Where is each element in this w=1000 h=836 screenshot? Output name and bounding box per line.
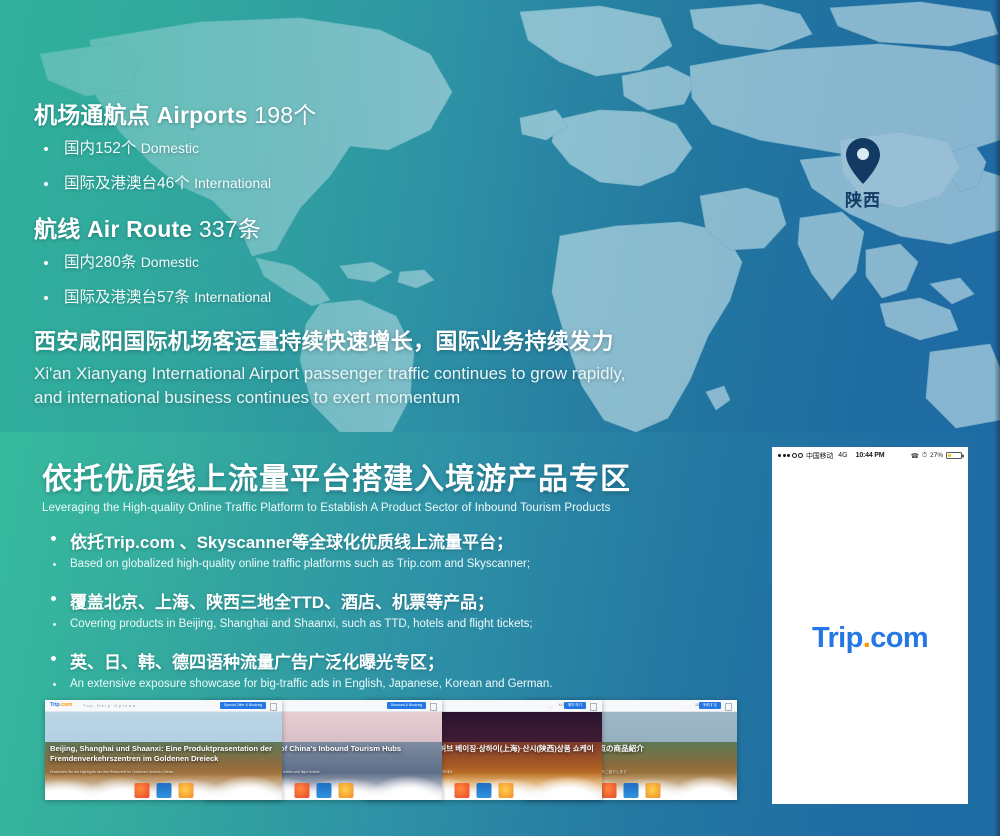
feature-3-en: An extensive exposure showcase for big-t… [42, 678, 682, 690]
status-right-group: ☎ ⏱ 27% [911, 452, 962, 460]
airports-heading: 机场通航点 Airports 198个 [34, 96, 694, 130]
routes-heading-en: Air Route [87, 216, 192, 242]
routes-domestic-en: Domestic [141, 254, 199, 270]
airports-domestic-en: Domestic [141, 140, 199, 156]
partner-logo-1-icon [134, 783, 149, 798]
feature-1-en: Based on globalized high-quality online … [42, 558, 682, 570]
feature-2-cn: 覆盖北京、上海、陕西三地全TTD、酒店、机票等产品； [42, 588, 682, 613]
menu-icon[interactable] [430, 703, 437, 711]
thumb-nav-links: Top Help Upload [83, 703, 137, 708]
routes-heading-cn: 航线 [34, 216, 80, 242]
thumb-cta-button[interactable]: Special Offer & Booking [220, 702, 266, 709]
thumb-hero-image: Beijing, Shanghai und Shaanxi: Eine Prod… [45, 712, 282, 800]
phone-content: Trip.com [772, 464, 968, 804]
partner-logo-3-icon [646, 783, 661, 798]
list-item: 国际及港澳台46个 International [34, 175, 694, 192]
headline-en: Xi'an Xianyang International Airport pas… [34, 362, 634, 410]
screenshot-thumbnail-strip: Trip.com Top Help Upload DE Special Offe… [45, 700, 737, 800]
airports-domestic-cn: 国内152个 [64, 140, 136, 157]
alarm-clock-icon: ⏱ [922, 452, 927, 460]
partner-logo-1-icon [294, 783, 309, 798]
section-title: 依托优质线上流量平台搭建入境游产品专区 Leveraging the High-… [42, 464, 631, 514]
section-title-en: Leveraging the High-quality Online Traff… [42, 502, 631, 514]
airports-heading-en: Airports [157, 102, 248, 128]
airports-heading-num: 198个 [254, 102, 316, 128]
list-item: 英、日、韩、德四语种流量广告广泛化曝光专区； An extensive expo… [42, 648, 682, 690]
hero-partner-logos [134, 783, 193, 798]
shaanxi-map-marker: 陕西 [833, 138, 893, 211]
thumb-cta-button[interactable]: 예약 하기 [564, 702, 586, 709]
section-title-cn: 依托优质线上流量平台搭建入境游产品专区 [42, 464, 631, 496]
hero-partner-logos [602, 783, 661, 798]
slide-canvas: 机场通航点 Airports 198个 国内152个 Domestic 国际及港… [0, 0, 1000, 836]
top-stats-block: 机场通航点 Airports 198个 国内152个 Domestic 国际及港… [34, 96, 694, 410]
flag-jp-icon [682, 703, 689, 708]
partner-logo-3-icon [498, 783, 513, 798]
map-pin-icon [833, 138, 893, 184]
hero-partner-logos [454, 783, 513, 798]
list-item: 国内152个 Domestic [34, 140, 694, 157]
menu-icon[interactable] [590, 703, 597, 711]
partner-logo-2-icon [156, 783, 171, 798]
thumb-browser-bar: Trip.com Top Help Upload DE Special Offe… [45, 700, 282, 712]
partner-logo-2-icon [476, 783, 491, 798]
routes-heading-num: 337条 [199, 216, 261, 242]
routes-domestic-cn: 国内280条 [64, 254, 136, 271]
list-item: 依托Trip.com 、Skyscanner等全球化优质线上流量平台； Base… [42, 528, 682, 570]
partner-logo-1-icon [602, 783, 617, 798]
thumb-caption: Beijing, Shanghai und Shaanxi: Eine Prod… [50, 744, 277, 764]
flag-kr-icon [547, 703, 554, 708]
routes-list: 国内280条 Domestic 国际及港澳台57条 International [34, 254, 694, 306]
feature-1-cn: 依托Trip.com 、Skyscanner等全球化优质线上流量平台； [42, 528, 682, 553]
phone-status-bar: 中国移动 4G 10:44 PM ☎ ⏱ 27% [772, 447, 968, 464]
routes-intl-en: International [194, 289, 271, 305]
airports-intl-cn: 国际及港澳台46个 [64, 175, 190, 192]
battery-low-power-icon [946, 452, 962, 460]
feature-3-cn: 英、日、韩、德四语种流量广告广泛化曝光专区； [42, 648, 682, 673]
province-label: 陕西 [833, 186, 893, 211]
partner-logo-2-icon [316, 783, 331, 798]
top-section: 机场通航点 Airports 198个 国内152个 Domestic 国际及港… [0, 0, 1000, 432]
partner-logo-3-icon [178, 783, 193, 798]
headline-cn: 西安咸阳国际机场客运量持续快速增长，国际业务持续发力 [34, 324, 694, 356]
thumbnail-de[interactable]: Trip.com Top Help Upload DE Special Offe… [45, 700, 282, 800]
list-item: 国际及港澳台57条 International [34, 289, 694, 306]
routes-heading: 航线 Air Route 337条 [34, 210, 694, 244]
thumb-subcaption: Entdecken Sie die Highlights der drei Re… [50, 770, 272, 775]
list-item: 覆盖北京、上海、陕西三地全TTD、酒店、机票等产品； Covering prod… [42, 588, 682, 630]
thumb-cta-button[interactable]: 予約する [699, 702, 721, 709]
partner-logo-2-icon [624, 783, 639, 798]
partner-logo-3-icon [338, 783, 353, 798]
airports-heading-cn: 机场通航点 [34, 102, 150, 128]
menu-icon[interactable] [725, 703, 732, 711]
phone-mockup: 中国移动 4G 10:44 PM ☎ ⏱ 27% Trip.com [772, 447, 968, 804]
thumb-cta-button[interactable]: Discount & Booking [387, 702, 426, 709]
airports-list: 国内152个 Domestic 国际及港澳台46个 International [34, 140, 694, 192]
feature-2-en: Covering products in Beijing, Shanghai a… [42, 618, 682, 630]
battery-percent-label: 27% [930, 452, 943, 459]
list-item: 国内280条 Domestic [34, 254, 694, 271]
feature-list: 依托Trip.com 、Skyscanner等全球化优质线上流量平台； Base… [42, 528, 682, 708]
routes-intl-cn: 国际及港澳台57条 [64, 289, 190, 306]
phone-handset-icon: ☎ [911, 452, 919, 460]
hero-partner-logos [294, 783, 353, 798]
airports-intl-en: International [194, 175, 271, 191]
menu-icon[interactable] [270, 703, 277, 711]
partner-logo-1-icon [454, 783, 469, 798]
trip-com-logo: Trip.com [772, 622, 968, 655]
trip-logo-icon: Trip.com [50, 702, 72, 708]
